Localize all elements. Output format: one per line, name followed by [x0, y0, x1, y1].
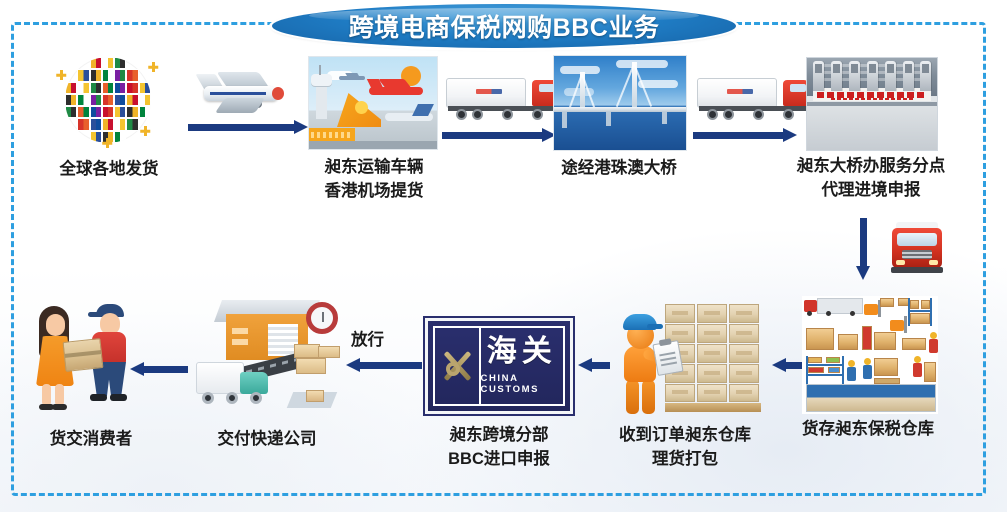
step-7-label-line1: 昶东跨境分部: [374, 424, 624, 446]
courier-warehouse-icon: [192, 296, 342, 414]
truck-side-icon-2: [697, 76, 809, 124]
step-9-label: 货交消费者: [8, 428, 174, 450]
truck-side-icon-1: [446, 76, 558, 124]
diagram-title: 跨境电商保税网购BBC业务: [272, 4, 736, 48]
step-3-hzmb-bridge: 途经港珠澳大桥: [553, 55, 687, 151]
arrow-down-icon: [860, 218, 867, 280]
step-9-delivered-to-consumer: 货交消费者: [26, 300, 150, 412]
arrow-right-icon-2: [442, 132, 556, 139]
step-4-bridge-office-declaration: 昶东大桥办服务分点 代理进境申报: [806, 57, 938, 151]
port-checkpoint-icon: [806, 57, 938, 151]
step-2-label-line1: 昶东运输车辆: [279, 156, 469, 178]
flag-globe-icon: [56, 52, 162, 148]
page-title: 跨境电商保税网购BBC业务: [272, 4, 736, 48]
arrow-left-icon-1: [772, 362, 802, 369]
connector-1-air: [196, 62, 288, 124]
connector-2-road: [446, 76, 558, 124]
arrow-left-icon-2: [578, 362, 610, 369]
release-label: 放行: [351, 326, 384, 350]
china-customs-sign-icon: 海关 CHINA CUSTOMS: [425, 318, 573, 414]
step-1-label: 全球各地发货: [26, 158, 192, 180]
truck-front-icon: [890, 222, 944, 278]
step-7-bbc-import-declaration: 海关 CHINA CUSTOMS 昶东跨境分部 BBC进口申报: [425, 318, 573, 414]
customs-emblem-panel: [435, 328, 481, 404]
order-picking-icon: [611, 296, 761, 416]
customs-english-text: CHINA CUSTOMS: [481, 373, 563, 395]
step-6-order-picking-packing: 收到订单昶东仓库 理货打包: [611, 296, 761, 416]
arrow-left-icon-3: [346, 362, 422, 369]
step-4-label-line1: 昶东大桥办服务分点: [745, 155, 997, 177]
delivery-handoff-icon: [26, 300, 150, 412]
step-2-label-line2: 香港机场提货: [279, 180, 469, 202]
customs-caduceus-key-icon: [437, 346, 477, 386]
step-8-label: 交付快递公司: [164, 428, 370, 450]
step-1-global-shipping: 全球各地发货: [56, 52, 162, 148]
arrow-right-icon-3: [693, 132, 797, 139]
diagram-canvas: 跨境电商保税网购BBC业务 全球各地发货: [0, 0, 1007, 512]
airport-icon: [308, 56, 438, 150]
arrow-right-icon-1: [188, 124, 308, 131]
step-3-label: 途经港珠澳大桥: [522, 157, 716, 179]
customs-chinese-text: 海关: [487, 337, 557, 367]
step-7-label-line2: BBC进口申报: [374, 448, 624, 470]
step-4-label-line2: 代理进境申报: [745, 179, 997, 201]
connector-3-road: [697, 76, 809, 124]
warehouse-collage-icon: [802, 296, 938, 414]
step-5-bonded-warehouse: 货存昶东保税仓库: [802, 296, 938, 414]
step-2-hk-airport-pickup: 昶东运输车辆 香港机场提货: [308, 56, 438, 150]
airplane-icon: [196, 62, 288, 124]
bridge-photo-icon: [553, 55, 687, 151]
step-8-handover-to-courier: 交付快递公司: [192, 296, 342, 414]
